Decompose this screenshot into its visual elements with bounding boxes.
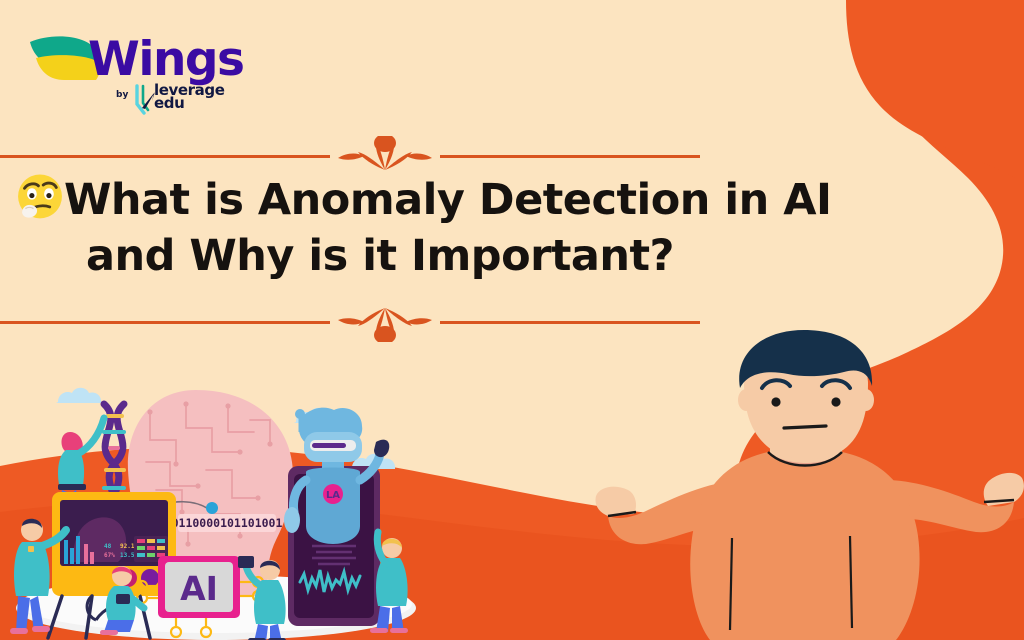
ai-chip-label: AI (180, 569, 218, 608)
divider-bottom (0, 312, 760, 332)
binary-code-label: 0110000101101001 (172, 514, 283, 532)
ai-concept-illustration: 0110000101101001 (0, 370, 420, 640)
title-text-1: What is Anomaly Detection in AI (64, 175, 831, 225)
wire-node (206, 502, 218, 514)
torso-shirt (690, 452, 919, 640)
left-hand (596, 487, 637, 516)
svg-text:13.5: 13.5 (120, 552, 135, 559)
binary-code-text: 0110000101101001 (172, 516, 283, 530)
left-ear (738, 389, 754, 411)
brand-by-label: by (116, 90, 128, 100)
divider-line-right-bottom (440, 321, 700, 324)
right-eye (831, 397, 840, 406)
svg-text:LA: LA (326, 490, 340, 501)
thinking-face-icon (14, 172, 66, 224)
right-ear (858, 389, 874, 411)
brand-logo[interactable]: Wings by leverage edu (26, 28, 226, 128)
divider-line-left (0, 155, 330, 158)
brand-wordmark: Wings (88, 36, 244, 83)
title-line-2: and Why is it Important? (86, 228, 914, 284)
divider-top (0, 146, 760, 166)
brand-parent-name: leverage edu (154, 84, 225, 110)
title-line-1: What is Anomaly Detection in AI (14, 170, 914, 228)
svg-text:48: 48 (104, 543, 112, 550)
divider-line-left-bottom (0, 321, 330, 324)
leverage-check-icon (134, 84, 156, 116)
page-title: What is Anomaly Detection in AI and Why … (14, 170, 914, 284)
mouth (784, 426, 826, 428)
floral-fan-ornament-inverted-icon (330, 302, 440, 342)
brand-parent-line2: edu (154, 94, 184, 112)
robot-phone-icon: LA (284, 408, 389, 626)
divider-line-right (440, 155, 700, 158)
poster-canvas: Wings by leverage edu (0, 0, 1024, 640)
left-eye (771, 397, 780, 406)
shrugging-man-illustration (592, 330, 1024, 640)
svg-text:67%: 67% (104, 552, 115, 559)
